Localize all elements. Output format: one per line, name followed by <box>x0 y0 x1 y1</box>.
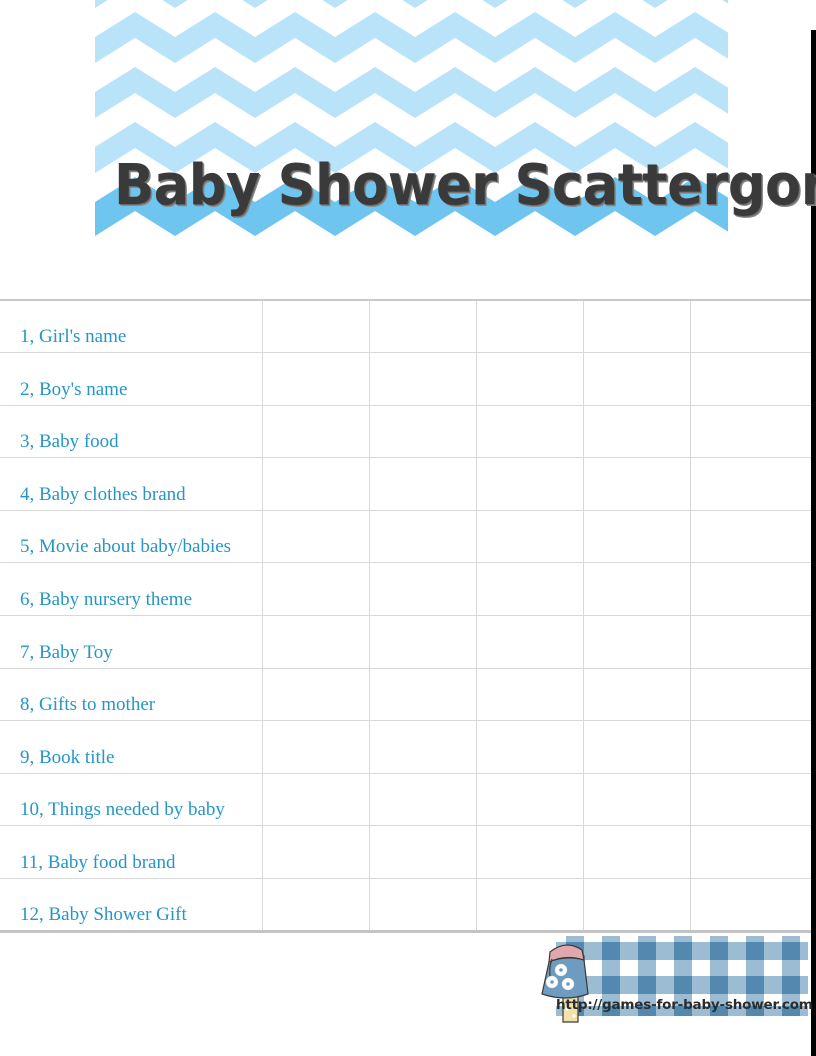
prompt-cell: 1, Girl's name <box>0 300 262 353</box>
answer-cell[interactable] <box>262 668 369 721</box>
answer-cell[interactable] <box>583 773 690 826</box>
answer-cell[interactable] <box>369 616 476 669</box>
answer-cell[interactable] <box>369 300 476 353</box>
prompt-cell: 2, Boy's name <box>0 353 262 406</box>
prompt-label: 7, Baby Toy <box>20 642 113 663</box>
prompt-label: 5, Movie about baby/babies <box>20 536 231 557</box>
prompt-cell: 9, Book title <box>0 721 262 774</box>
prompt-cell: 8, Gifts to mother <box>0 668 262 721</box>
prompt-cell: 11, Baby food brand <box>0 826 262 879</box>
table-row: 6, Baby nursery theme <box>0 563 811 616</box>
table-row: 3, Baby food <box>0 405 811 458</box>
answer-cell[interactable] <box>690 773 811 826</box>
answer-cell[interactable] <box>262 826 369 879</box>
answer-cell[interactable] <box>262 879 369 932</box>
table-row: 5, Movie about baby/babies <box>0 510 811 563</box>
answer-cell[interactable] <box>690 563 811 616</box>
answer-cell[interactable] <box>476 510 583 563</box>
answer-cell[interactable] <box>690 300 811 353</box>
answer-cell[interactable] <box>262 773 369 826</box>
prompt-cell: 7, Baby Toy <box>0 616 262 669</box>
answer-cell[interactable] <box>262 563 369 616</box>
answer-cell[interactable] <box>262 458 369 511</box>
table-row: 8, Gifts to mother <box>0 668 811 721</box>
footer-url-text: http://games-for-baby-shower.com <box>556 996 816 1014</box>
answer-cell[interactable] <box>476 721 583 774</box>
prompt-cell: 4, Baby clothes brand <box>0 458 262 511</box>
table-row: 1, Girl's name <box>0 300 811 353</box>
answer-cell[interactable] <box>690 510 811 563</box>
scattergories-table: 1, Girl's name2, Boy's name3, Baby food4… <box>0 299 811 933</box>
table-row: 7, Baby Toy <box>0 616 811 669</box>
answer-cell[interactable] <box>369 668 476 721</box>
answer-cell[interactable] <box>583 826 690 879</box>
answer-cell[interactable] <box>369 405 476 458</box>
answer-cell[interactable] <box>476 616 583 669</box>
answer-cell[interactable] <box>690 616 811 669</box>
answer-cell[interactable] <box>476 405 583 458</box>
footer-logo: http://games-for-baby-shower.com <box>556 936 816 1020</box>
answer-cell[interactable] <box>583 668 690 721</box>
table-row: 9, Book title <box>0 721 811 774</box>
answer-cell[interactable] <box>369 353 476 406</box>
answer-cell[interactable] <box>262 721 369 774</box>
answer-cell[interactable] <box>690 668 811 721</box>
answer-cell[interactable] <box>262 353 369 406</box>
answer-cell[interactable] <box>369 721 476 774</box>
answer-cell[interactable] <box>476 353 583 406</box>
answer-cell[interactable] <box>583 458 690 511</box>
table-row: 4, Baby clothes brand <box>0 458 811 511</box>
answer-cell[interactable] <box>476 458 583 511</box>
answer-cell[interactable] <box>262 405 369 458</box>
prompt-label: 6, Baby nursery theme <box>20 589 192 610</box>
answer-cell[interactable] <box>583 616 690 669</box>
answer-cell[interactable] <box>369 563 476 616</box>
answer-cell[interactable] <box>690 405 811 458</box>
table-row: 11, Baby food brand <box>0 826 811 879</box>
prompt-cell: 5, Movie about baby/babies <box>0 510 262 563</box>
answer-cell[interactable] <box>476 668 583 721</box>
prompt-cell: 10, Things needed by baby <box>0 773 262 826</box>
prompt-label: 11, Baby food brand <box>20 852 176 873</box>
answer-cell[interactable] <box>690 826 811 879</box>
prompt-label: 1, Girl's name <box>20 326 126 347</box>
answer-cell[interactable] <box>690 879 811 932</box>
table-row: 12, Baby Shower Gift <box>0 879 811 932</box>
answer-cell[interactable] <box>262 300 369 353</box>
prompt-label: 4, Baby clothes brand <box>20 484 186 505</box>
answer-cell[interactable] <box>262 510 369 563</box>
header-banner: Baby Shower Scattergories <box>95 0 728 260</box>
answer-cell[interactable] <box>369 826 476 879</box>
page-title: Baby Shower Scattergories <box>114 150 709 222</box>
answer-cell[interactable] <box>583 510 690 563</box>
prompt-label: 3, Baby food <box>20 431 119 452</box>
answer-cell[interactable] <box>583 300 690 353</box>
answer-cell[interactable] <box>583 563 690 616</box>
answer-cell[interactable] <box>369 773 476 826</box>
answer-cell[interactable] <box>583 879 690 932</box>
table-row: 2, Boy's name <box>0 353 811 406</box>
answer-cell[interactable] <box>369 458 476 511</box>
answer-cell[interactable] <box>476 563 583 616</box>
answer-cell[interactable] <box>476 826 583 879</box>
answer-cell[interactable] <box>476 879 583 932</box>
answer-cell[interactable] <box>476 773 583 826</box>
prompt-cell: 3, Baby food <box>0 405 262 458</box>
answer-cell[interactable] <box>369 510 476 563</box>
answer-cell[interactable] <box>583 405 690 458</box>
prompt-cell: 6, Baby nursery theme <box>0 563 262 616</box>
prompt-label: 12, Baby Shower Gift <box>20 904 187 925</box>
answer-cell[interactable] <box>369 879 476 932</box>
answer-cell[interactable] <box>476 300 583 353</box>
answer-cell[interactable] <box>583 353 690 406</box>
answer-cell[interactable] <box>690 458 811 511</box>
prompt-label: 2, Boy's name <box>20 379 127 400</box>
prompt-label: 8, Gifts to mother <box>20 694 155 715</box>
answer-cell[interactable] <box>690 721 811 774</box>
answer-cell[interactable] <box>690 353 811 406</box>
table-row: 10, Things needed by baby <box>0 773 811 826</box>
answer-cell[interactable] <box>262 616 369 669</box>
prompt-label: 10, Things needed by baby <box>20 799 225 820</box>
answer-cell[interactable] <box>583 721 690 774</box>
prompt-cell: 12, Baby Shower Gift <box>0 879 262 932</box>
prompt-label: 9, Book title <box>20 747 114 768</box>
